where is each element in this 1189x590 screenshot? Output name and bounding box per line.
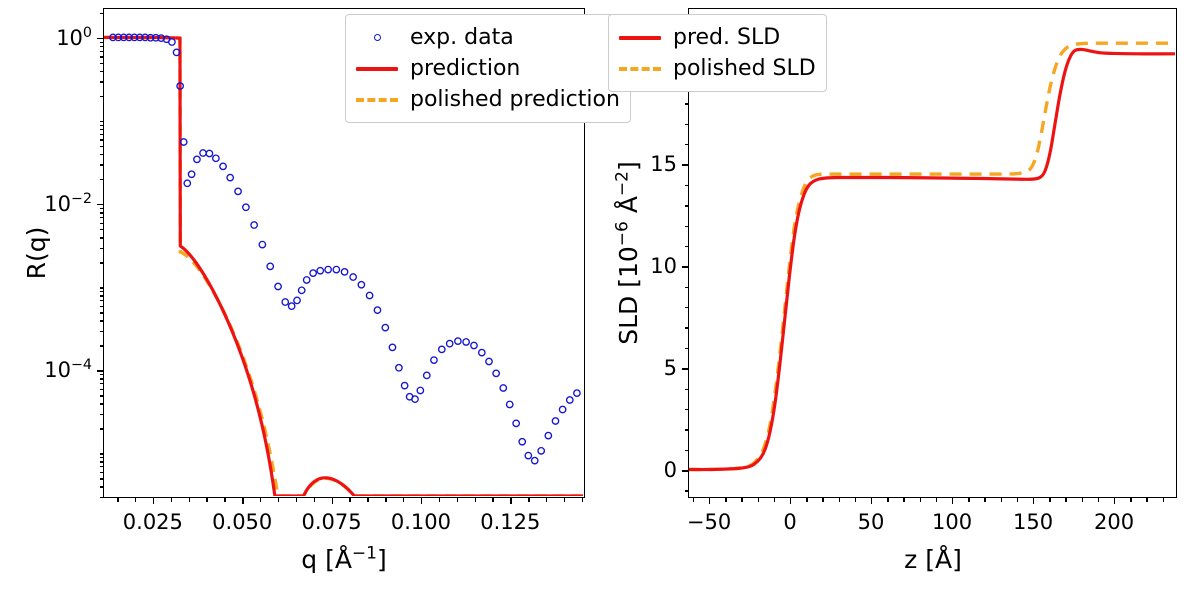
x-tick-major — [421, 498, 422, 504]
x-tick-minor — [403, 498, 404, 502]
y-tick-minor — [100, 212, 104, 213]
exp-data-point — [206, 150, 212, 156]
exp-data-point — [251, 222, 257, 228]
y-tick-minor — [100, 81, 104, 82]
y-tick-minor — [100, 51, 104, 52]
y-tick-minor — [685, 450, 689, 451]
y-tick-minor — [100, 287, 104, 288]
exp-data-point — [500, 385, 506, 391]
exp-data-point — [431, 357, 437, 363]
y-tick-minor — [100, 139, 104, 140]
exp-data-point — [486, 358, 492, 364]
legend-item: polished prediction — [354, 84, 620, 115]
exp-data-point — [412, 396, 418, 402]
exp-data-point — [552, 418, 558, 424]
x-tick-minor — [758, 498, 759, 502]
y-tick-minor — [100, 63, 104, 64]
x-tick-minor — [260, 498, 261, 502]
exp-data-point — [455, 338, 461, 344]
x-tick-minor — [206, 498, 207, 502]
y-tick-minor — [100, 56, 104, 57]
x-tick-major — [332, 498, 333, 504]
x-axis-title-z: z [Å] — [904, 545, 962, 574]
legend-solid-line-icon — [356, 67, 398, 71]
y-tick-minor — [100, 13, 104, 14]
x-tick-minor — [224, 498, 225, 502]
x-tick-minor — [189, 498, 190, 502]
y-tick-minor — [685, 144, 689, 145]
exp-data-point — [317, 268, 323, 274]
x-tick-minor — [135, 498, 136, 502]
x-tick-major — [1033, 498, 1034, 504]
pred-sld-line — [689, 49, 1175, 469]
y-tick-label: 100 — [0, 26, 92, 50]
exp-data-point — [235, 188, 241, 194]
x-tick-minor — [492, 498, 493, 502]
exp-data-point — [227, 174, 233, 180]
exp-data-point — [200, 150, 206, 156]
legend-key-dashed — [617, 58, 663, 80]
y-tick-minor — [100, 42, 104, 43]
y-tick-minor — [685, 409, 689, 410]
x-tick-minor — [385, 498, 386, 502]
exp-data-point — [424, 372, 430, 378]
legend-dashed-line-icon — [619, 67, 661, 71]
y-tick-label: 10−2 — [0, 192, 92, 216]
legend-label: polished SLD — [673, 56, 816, 81]
x-tick-minor — [1130, 498, 1131, 502]
y-tick-minor — [100, 237, 104, 238]
exp-data-point — [545, 432, 551, 438]
y-tick-minor — [100, 262, 104, 263]
x-tick-minor — [1001, 498, 1002, 502]
y-tick-minor — [685, 103, 689, 104]
reflectometry-figure: 0.0250.0500.0750.1000.12510010−210−4 q [… — [0, 0, 1189, 590]
y-tick-minor — [685, 185, 689, 186]
legend-key-solid — [617, 27, 663, 49]
x-tick-label: 0.025 — [123, 510, 183, 534]
y-tick-minor — [100, 223, 104, 224]
exp-data-point — [519, 439, 525, 445]
y-tick-minor — [100, 295, 104, 296]
legend-key-solid — [354, 58, 400, 80]
exp-data-point — [259, 241, 265, 247]
exp-data-point — [366, 292, 372, 298]
x-tick-label: −50 — [687, 510, 731, 534]
x-tick-minor — [1017, 498, 1018, 502]
x-tick-minor — [774, 498, 775, 502]
y-tick-major — [682, 164, 688, 165]
exp-data-point — [288, 303, 294, 309]
x-tick-label: 0.125 — [480, 510, 540, 534]
exp-data-point — [220, 163, 226, 169]
legend-reflectivity: exp. datapredictionpolished prediction — [345, 14, 631, 123]
x-tick-minor — [457, 498, 458, 502]
x-tick-minor — [903, 498, 904, 502]
y-tick-minor — [100, 46, 104, 47]
exp-data-point — [350, 274, 356, 280]
exp-data-point — [471, 342, 477, 348]
polished-sld-line — [689, 43, 1175, 469]
legend-key-marker — [354, 27, 400, 49]
x-tick-minor — [1098, 498, 1099, 502]
y-tick-minor — [100, 320, 104, 321]
x-tick-minor — [546, 498, 547, 502]
legend-item: pred. SLD — [617, 22, 816, 53]
y-tick-major — [682, 470, 688, 471]
x-tick-major — [1114, 498, 1115, 504]
x-tick-minor — [839, 498, 840, 502]
x-tick-label: 0 — [783, 510, 796, 534]
x-tick-minor — [1146, 498, 1147, 502]
x-tick-label: 0.100 — [391, 510, 451, 534]
exp-data-point — [417, 387, 423, 393]
x-tick-minor — [475, 498, 476, 502]
y-tick-minor — [100, 389, 104, 390]
x-axis-title-q: q [Å−1] — [301, 545, 387, 574]
y-tick-minor — [100, 129, 104, 130]
legend-label: prediction — [410, 56, 520, 81]
legend-item: polished SLD — [617, 53, 816, 84]
y-tick-minor — [100, 125, 104, 126]
x-tick-major — [790, 498, 791, 504]
exp-data-point — [325, 266, 331, 272]
x-tick-minor — [1065, 498, 1066, 502]
exp-data-point — [382, 324, 388, 330]
x-tick-minor — [741, 498, 742, 502]
y-tick-minor — [100, 331, 104, 332]
x-tick-minor — [1082, 498, 1083, 502]
y-tick-minor — [685, 327, 689, 328]
x-tick-minor — [117, 498, 118, 502]
exp-data-point — [507, 401, 513, 407]
y-tick-minor — [685, 429, 689, 430]
legend-label: polished prediction — [410, 87, 620, 112]
x-tick-label: 100 — [932, 510, 972, 534]
y-tick-minor — [685, 287, 689, 288]
y-tick-minor — [685, 124, 689, 125]
y-tick-minor — [100, 121, 104, 122]
exp-data-point — [243, 204, 249, 210]
exp-data-point — [341, 269, 347, 275]
y-tick-minor — [100, 179, 104, 180]
y-axis-title-rq: R(q) — [22, 227, 51, 280]
x-tick-minor — [920, 498, 921, 502]
x-tick-major — [709, 498, 710, 504]
x-tick-minor — [582, 498, 583, 502]
exp-data-point — [267, 263, 273, 269]
exp-data-point — [184, 180, 190, 186]
exp-data-point — [525, 452, 531, 458]
exp-data-point — [333, 266, 339, 272]
legend-circle-marker-icon — [374, 34, 381, 41]
exp-data-point — [439, 346, 445, 352]
exp-data-point — [538, 448, 544, 454]
y-tick-minor — [100, 461, 104, 462]
exp-data-point — [358, 282, 364, 288]
x-tick-minor — [564, 498, 565, 502]
y-tick-minor — [100, 497, 104, 498]
legend-item: prediction — [354, 53, 620, 84]
legend-sld: pred. SLDpolished SLD — [608, 14, 827, 92]
exp-data-point — [298, 287, 304, 293]
x-tick-minor — [439, 498, 440, 502]
y-tick-minor — [100, 300, 104, 301]
y-tick-minor — [100, 164, 104, 165]
x-tick-minor — [349, 498, 350, 502]
y-tick-minor — [100, 383, 104, 384]
x-tick-minor — [806, 498, 807, 502]
exp-data-point — [303, 277, 309, 283]
legend-key-dashed — [354, 89, 400, 111]
y-axis-title-sld: SLD [10−6 Å−2] — [614, 161, 643, 345]
x-tick-minor — [936, 498, 937, 502]
y-tick-minor — [100, 453, 104, 454]
y-tick-major — [682, 368, 688, 369]
x-tick-major — [871, 498, 872, 504]
y-tick-major — [682, 266, 688, 267]
y-tick-minor — [100, 428, 104, 429]
exp-data-point — [532, 457, 538, 463]
x-tick-minor — [528, 498, 529, 502]
y-tick-minor — [100, 248, 104, 249]
y-tick-minor — [100, 403, 104, 404]
y-tick-minor — [100, 472, 104, 473]
x-tick-major — [952, 498, 953, 504]
y-tick-label: 10−4 — [0, 358, 92, 382]
exp-data-point — [282, 299, 288, 305]
x-tick-minor — [693, 498, 694, 502]
y-tick-minor — [685, 205, 689, 206]
exp-data-point — [574, 390, 580, 396]
y-tick-minor — [100, 414, 104, 415]
x-tick-minor — [855, 498, 856, 502]
y-tick-minor — [100, 208, 104, 209]
exp-data-point — [374, 307, 380, 313]
x-tick-label: 200 — [1094, 510, 1134, 534]
legend-item: exp. data — [354, 22, 620, 53]
exp-data-point — [188, 171, 194, 177]
y-tick-minor — [100, 345, 104, 346]
x-tick-minor — [1049, 498, 1050, 502]
panel-reflectivity: 0.0250.0500.0750.1000.12510010−210−4 q [… — [0, 0, 600, 590]
exp-data-point — [559, 406, 565, 412]
x-tick-label: 50 — [858, 510, 885, 534]
exp-data-point — [446, 340, 452, 346]
y-tick-minor — [685, 226, 689, 227]
x-tick-minor — [314, 498, 315, 502]
exp-data-point — [194, 156, 200, 162]
y-tick-major — [97, 38, 103, 39]
x-tick-minor — [822, 498, 823, 502]
x-tick-minor — [171, 498, 172, 502]
x-tick-major — [510, 498, 511, 504]
exp-data-point — [567, 397, 573, 403]
panel-sld: −5005010015020005101520 z [Å] SLD [10−6 … — [600, 0, 1189, 590]
y-tick-major — [97, 204, 103, 205]
x-tick-minor — [887, 498, 888, 502]
x-tick-minor — [296, 498, 297, 502]
exp-data-point — [479, 349, 485, 355]
y-tick-minor — [100, 291, 104, 292]
x-tick-major — [153, 498, 154, 504]
y-tick-minor — [100, 457, 104, 458]
y-tick-minor — [685, 246, 689, 247]
y-tick-minor — [685, 348, 689, 349]
x-tick-minor — [367, 498, 368, 502]
exp-data-point — [294, 297, 300, 303]
legend-label: exp. data — [410, 25, 514, 50]
x-tick-label: 0.075 — [302, 510, 362, 534]
y-tick-minor — [100, 374, 104, 375]
exp-data-point — [275, 283, 281, 289]
y-tick-minor — [100, 306, 104, 307]
y-tick-minor — [100, 395, 104, 396]
y-tick-minor — [685, 389, 689, 390]
x-tick-minor — [984, 498, 985, 502]
exp-data-point — [463, 339, 469, 345]
exp-data-point — [493, 370, 499, 376]
y-tick-minor — [100, 96, 104, 97]
y-tick-major — [97, 370, 103, 371]
y-tick-minor — [100, 134, 104, 135]
y-tick-minor — [100, 229, 104, 230]
y-tick-minor — [100, 478, 104, 479]
y-tick-minor — [685, 490, 689, 491]
y-tick-minor — [100, 466, 104, 467]
legend-label: pred. SLD — [673, 25, 780, 50]
x-tick-minor — [968, 498, 969, 502]
x-tick-major — [242, 498, 243, 504]
x-tick-minor — [278, 498, 279, 502]
y-tick-label: 0 — [600, 458, 677, 482]
legend-dashed-line-icon — [356, 98, 398, 102]
y-tick-minor — [100, 217, 104, 218]
exp-data-point — [401, 382, 407, 388]
y-tick-minor — [100, 154, 104, 155]
y-tick-minor — [100, 312, 104, 313]
x-tick-label: 150 — [1013, 510, 1053, 534]
exp-data-point — [389, 344, 395, 350]
x-tick-minor — [725, 498, 726, 502]
y-tick-minor — [100, 378, 104, 379]
exp-data-point — [213, 155, 219, 161]
y-tick-minor — [100, 71, 104, 72]
x-tick-minor — [1163, 498, 1164, 502]
legend-solid-line-icon — [619, 36, 661, 40]
y-tick-minor — [100, 486, 104, 487]
exp-data-point — [310, 270, 316, 276]
y-tick-label: 5 — [600, 356, 677, 380]
y-tick-minor — [685, 307, 689, 308]
exp-data-point — [169, 39, 175, 45]
y-tick-minor — [100, 146, 104, 147]
x-tick-label: 0.050 — [212, 510, 272, 534]
exp-data-point — [513, 420, 519, 426]
exp-data-point — [396, 365, 402, 371]
